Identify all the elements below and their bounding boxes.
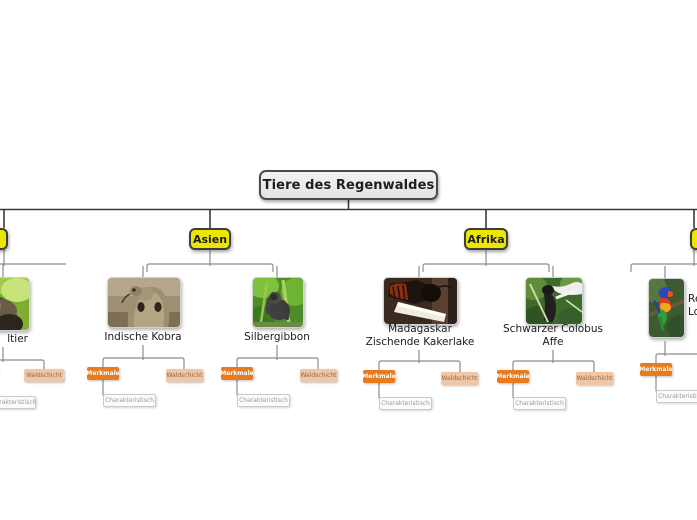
- chip-charakteristisch-indische-kobra[interactable]: Charakteristisch: [103, 394, 156, 407]
- region-node-afrika[interactable]: Afrika: [464, 228, 508, 250]
- chip-charakteristisch-madagaskar-zischende-kakerlake[interactable]: Charakteristisch: [379, 397, 432, 410]
- mindmap-canvas: Tiere des Regenwaldes Asien Afrika ltier…: [0, 0, 697, 520]
- chip-charakteristisch-regenbogen-lori[interactable]: Charakteristisch: [656, 390, 697, 403]
- animal-label-regenbogen-lori: Re Lo: [688, 293, 697, 318]
- region-node-asien-label: Asien: [193, 233, 227, 246]
- chip-merkmale-schwarzer-colobus-affe[interactable]: Merkmale: [497, 370, 529, 383]
- colobus-photo[interactable]: [525, 277, 583, 325]
- chip-charakteristisch-faultier[interactable]: Charakteristisch: [0, 396, 36, 409]
- region-node-cut-right[interactable]: [690, 228, 697, 250]
- animal-label-faultier: ltier: [0, 333, 28, 346]
- chip-waldschicht-madagaskar-zischende-kakerlake[interactable]: Waldschicht: [441, 372, 478, 385]
- chip-merkmale-regenbogen-lori[interactable]: Merkmale: [640, 363, 672, 376]
- animal-label-indische-kobra: Indische Kobra: [88, 331, 198, 344]
- root-node-label: Tiere des Regenwaldes: [263, 178, 435, 193]
- chip-merkmale-indische-kobra[interactable]: Merkmale: [87, 367, 119, 380]
- root-node[interactable]: Tiere des Regenwaldes: [259, 170, 438, 200]
- chip-waldschicht-indische-kobra[interactable]: Waldschicht: [166, 369, 203, 382]
- chip-charakteristisch-silbergibbon[interactable]: Charakteristisch: [237, 394, 290, 407]
- animal-label-madagaskar-zischende-kakerlake: Madagaskar Zischende Kakerlake: [355, 323, 485, 348]
- region-node-afrika-label: Afrika: [467, 233, 504, 246]
- gibbon-photo[interactable]: [252, 277, 304, 328]
- chip-waldschicht-schwarzer-colobus-affe[interactable]: Waldschicht: [576, 372, 613, 385]
- region-node-asien[interactable]: Asien: [189, 228, 231, 250]
- lorikeet-photo[interactable]: [648, 278, 685, 338]
- chip-merkmale-silbergibbon[interactable]: Merkmale: [221, 367, 253, 380]
- cobra-photo[interactable]: [107, 277, 181, 328]
- chip-merkmale-madagaskar-zischende-kakerlake[interactable]: Merkmale: [363, 370, 395, 383]
- animal-label-silbergibbon: Silbergibbon: [222, 331, 332, 344]
- region-node-cut-left[interactable]: [0, 228, 8, 250]
- chip-waldschicht-faultier[interactable]: Waldschicht: [24, 369, 64, 382]
- cockroach-photo[interactable]: [383, 277, 458, 325]
- chip-waldschicht-silbergibbon[interactable]: Waldschicht: [300, 369, 337, 382]
- connector-lines: [0, 0, 697, 520]
- chip-charakteristisch-schwarzer-colobus-affe[interactable]: Charakteristisch: [513, 397, 566, 410]
- sloth-photo[interactable]: [0, 277, 30, 331]
- animal-label-schwarzer-colobus-affe: Schwarzer Colobus Affe: [493, 323, 613, 348]
